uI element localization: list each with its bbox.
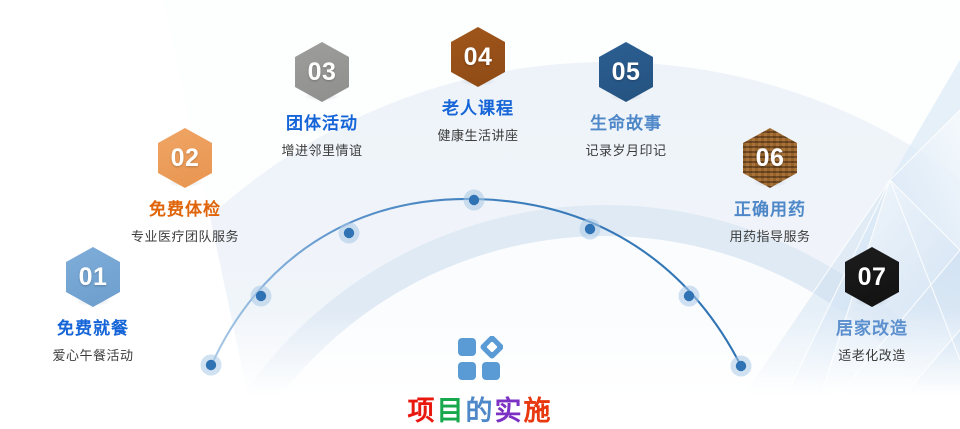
step-04-badge[interactable]: 04: [451, 27, 505, 87]
step-03-number: 03: [308, 60, 337, 85]
hexagon-badge-07-icon: 07: [845, 247, 899, 307]
step-06-desc: 用药指导服务: [675, 229, 865, 245]
hexagon-badge-02-icon: 02: [158, 128, 212, 188]
step-04-number: 04: [464, 45, 493, 70]
four-squares-logo-icon: [457, 336, 503, 382]
hexagon-badge-01-icon: 01: [66, 247, 120, 307]
step-06[interactable]: 06 正确用药 用药指导服务: [675, 128, 865, 245]
page-title-char-1: 项: [408, 398, 437, 425]
step-05-number: 05: [612, 60, 641, 85]
step-03-desc: 增进邻里情谊: [227, 143, 417, 159]
step-01-badge[interactable]: 01: [66, 247, 120, 307]
step-05-badge[interactable]: 05: [599, 42, 653, 102]
step-01-number: 01: [79, 265, 108, 290]
hexagon-badge-05-icon: 05: [599, 42, 653, 102]
page-title: 项目的实施: [0, 398, 960, 425]
logo-square-top-left: [458, 338, 476, 356]
step-02-badge[interactable]: 02: [158, 128, 212, 188]
step-07-number: 07: [858, 265, 887, 290]
logo-diamond-top-right: [479, 336, 503, 360]
step-02-desc: 专业医疗团队服务: [90, 229, 280, 245]
page-title-char-3: 的: [466, 398, 495, 425]
page-title-char-4: 实: [495, 398, 524, 425]
hexagon-badge-04-icon: 04: [451, 27, 505, 87]
arc-dot-4[interactable]: [469, 195, 479, 205]
arc-dot-3[interactable]: [344, 228, 354, 238]
step-02-number: 02: [171, 146, 200, 171]
logo-square-bottom-right: [482, 362, 500, 380]
arc-dot-6[interactable]: [684, 291, 694, 301]
step-06-number: 06: [756, 146, 785, 171]
hexagon-badge-06-woven-icon: 06: [743, 128, 797, 188]
step-06-badge[interactable]: 06: [743, 128, 797, 188]
step-06-title: 正确用药: [675, 200, 865, 220]
infographic-canvas: 01 免费就餐 爱心午餐活动 02 免费体检 专业医疗团队服务 03 团体活动 …: [0, 0, 960, 429]
page-title-char-2: 目: [437, 398, 466, 425]
logo-square-bottom-left: [458, 362, 476, 380]
hexagon-badge-03-icon: 03: [295, 42, 349, 102]
center-block: 项目的实施: [0, 336, 960, 425]
step-07-badge[interactable]: 07: [845, 247, 899, 307]
arc-dot-5[interactable]: [585, 224, 595, 234]
step-02-title: 免费体检: [90, 200, 280, 220]
page-title-char-5: 施: [524, 398, 553, 425]
step-03-badge[interactable]: 03: [295, 42, 349, 102]
arc-dot-2[interactable]: [256, 291, 266, 301]
